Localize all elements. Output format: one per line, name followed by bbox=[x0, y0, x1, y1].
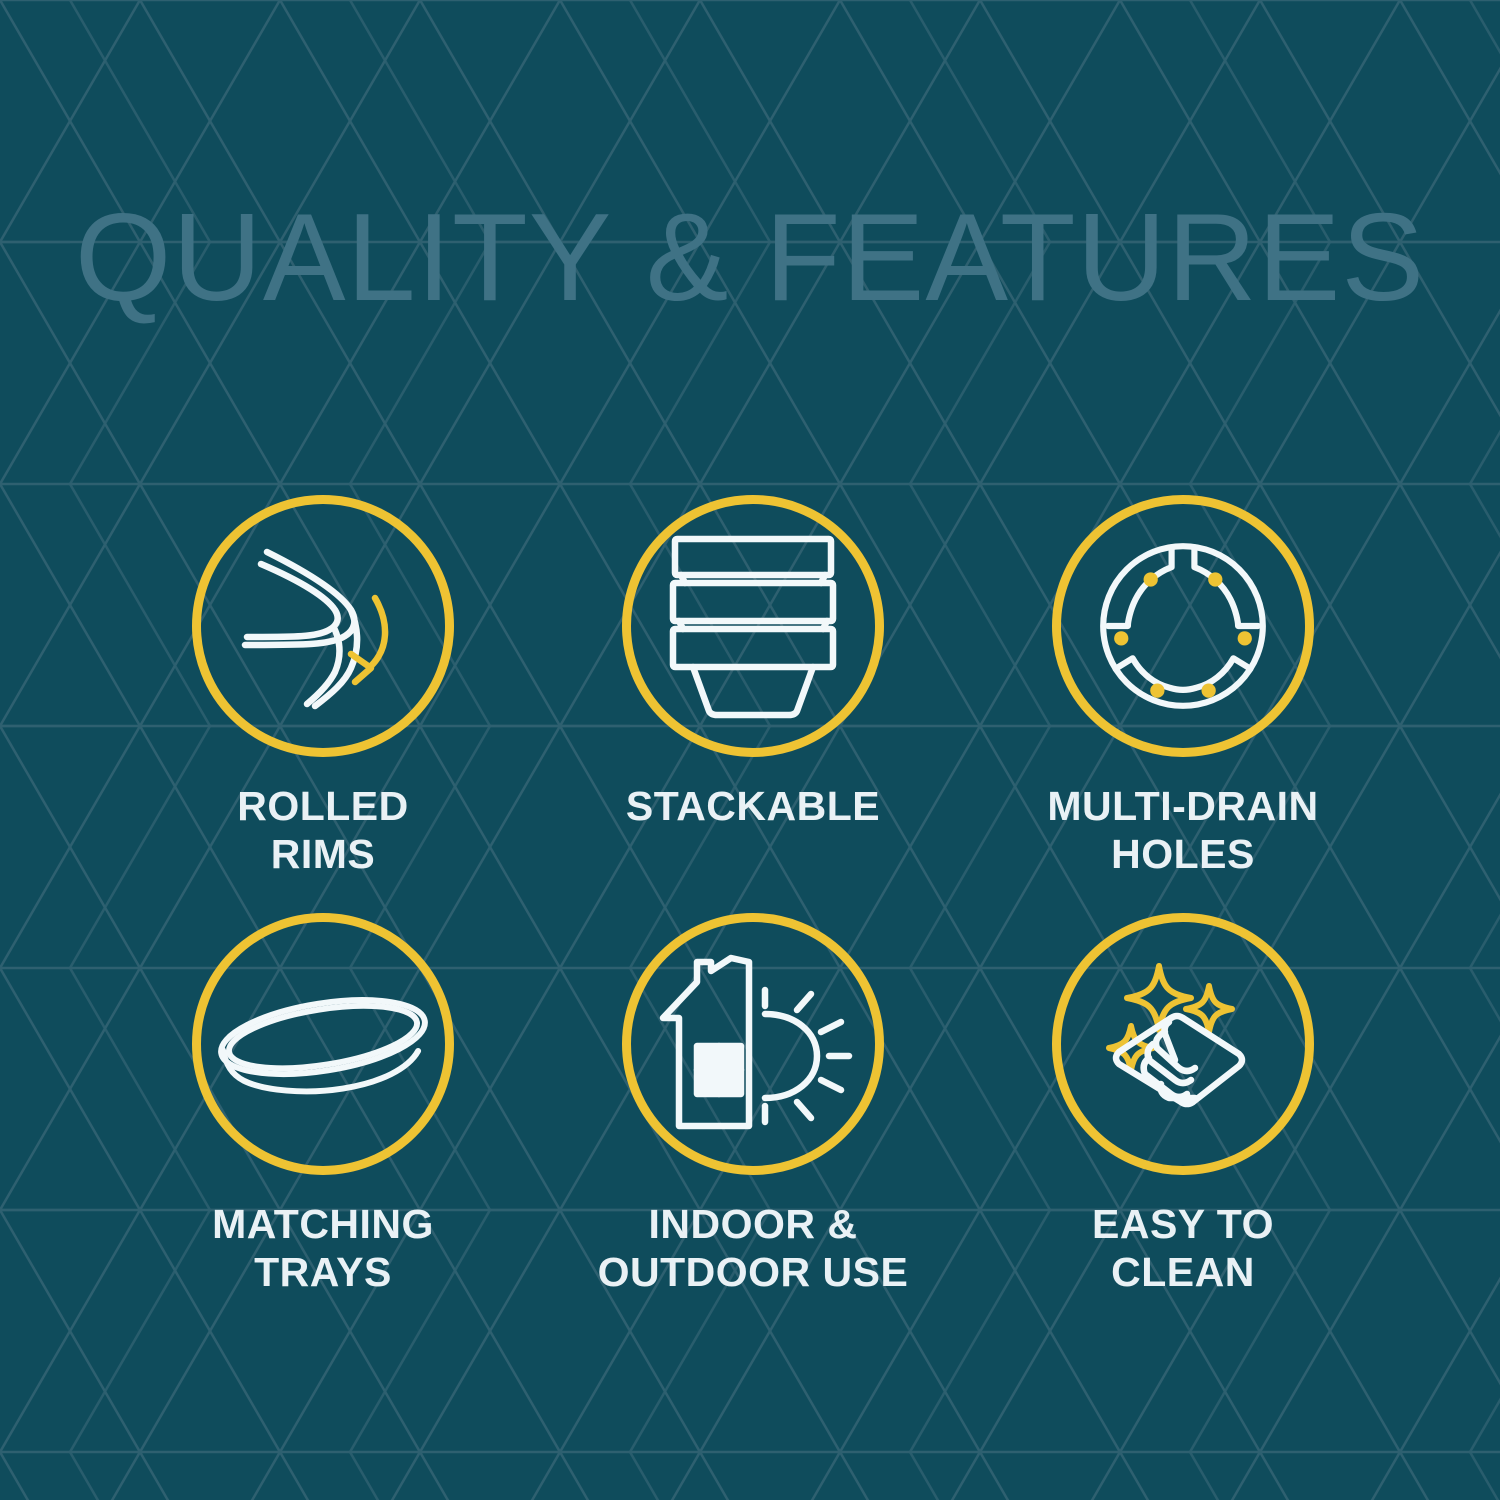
feature-grid: ROLLED RIMS bbox=[108, 470, 1398, 1306]
feature-item-easy-to-clean[interactable]: EASY TO CLEAN bbox=[968, 888, 1398, 1306]
rolled-rim-icon bbox=[223, 526, 423, 726]
feature-label: ROLLED RIMS bbox=[237, 783, 409, 878]
stacked-pots-icon bbox=[665, 533, 841, 719]
tray-saucer-icon bbox=[214, 979, 432, 1109]
icon-ring bbox=[192, 495, 454, 757]
icon-ring bbox=[1052, 913, 1314, 1175]
hand-wipe-sparkle-icon bbox=[1083, 944, 1283, 1144]
feature-label: INDOOR & OUTDOOR USE bbox=[598, 1201, 909, 1296]
feature-label: STACKABLE bbox=[626, 783, 880, 831]
feature-item-indoor-outdoor-use[interactable]: INDOOR & OUTDOOR USE bbox=[538, 888, 968, 1306]
feature-item-rolled-rims[interactable]: ROLLED RIMS bbox=[108, 470, 538, 888]
icon-ring bbox=[622, 495, 884, 757]
page-title: QUALITY & FEATURES bbox=[0, 196, 1500, 320]
feature-label: MULTI-DRAIN HOLES bbox=[1047, 783, 1318, 878]
house-sun-icon bbox=[653, 954, 853, 1134]
icon-ring bbox=[622, 913, 884, 1175]
quality-and-features-infographic: QUALITY & FEATURES bbox=[0, 0, 1500, 1500]
icon-ring bbox=[1052, 495, 1314, 757]
icon-ring bbox=[192, 913, 454, 1175]
feature-label: EASY TO CLEAN bbox=[1092, 1201, 1274, 1296]
feature-item-multi-drain-holes[interactable]: MULTI-DRAIN HOLES bbox=[968, 470, 1398, 888]
feature-item-matching-trays[interactable]: MATCHING TRAYS bbox=[108, 888, 538, 1306]
drain-holes-icon bbox=[1088, 531, 1278, 721]
feature-item-stackable[interactable]: STACKABLE bbox=[538, 470, 968, 888]
feature-label: MATCHING TRAYS bbox=[212, 1201, 434, 1296]
